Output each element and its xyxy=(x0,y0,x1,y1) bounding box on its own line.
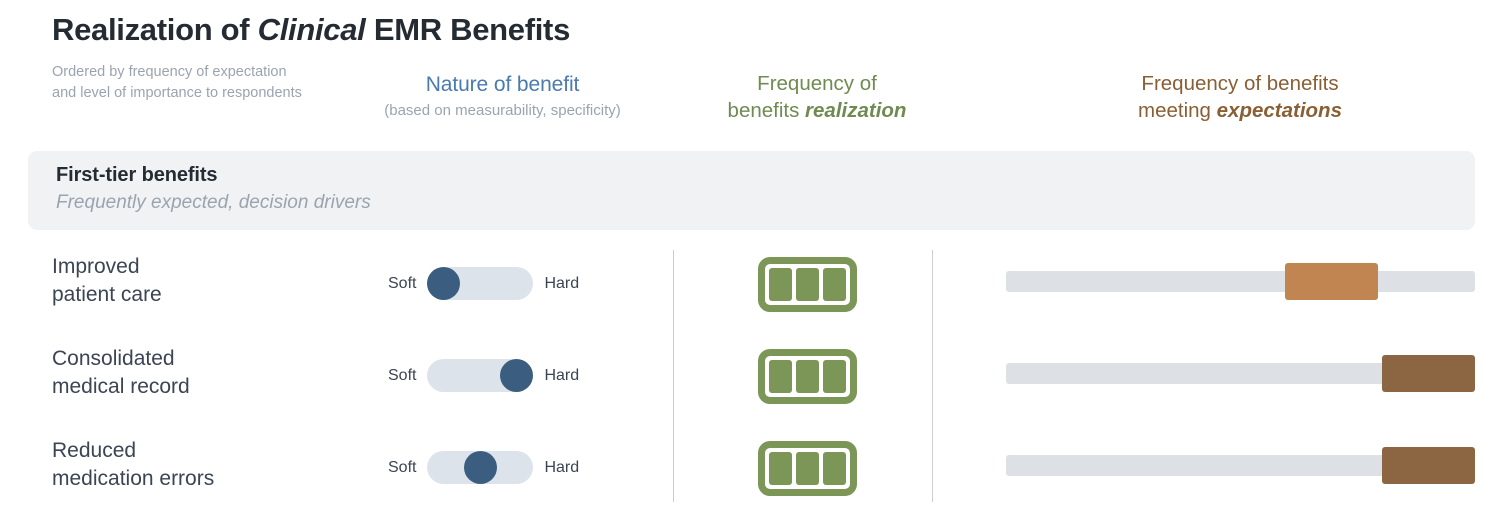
battery-icon xyxy=(758,349,857,404)
toggle-track[interactable] xyxy=(427,451,533,484)
battery-cell xyxy=(796,360,819,393)
battery-cell xyxy=(823,452,846,485)
title-part1: Realization of xyxy=(52,12,258,47)
table-row: Reduced medication errors Soft Hard xyxy=(0,432,1500,524)
column-header-expectations-line1: Frequency of benefits xyxy=(1000,70,1480,97)
expectation-bar-marker xyxy=(1382,447,1475,484)
title-part2: EMR Benefits xyxy=(366,12,571,47)
toggle-soft-label: Soft xyxy=(388,459,416,477)
expectation-bar-marker xyxy=(1285,263,1378,300)
realization-line2-plain: benefits xyxy=(728,99,806,122)
toggle-knob[interactable] xyxy=(464,451,497,484)
expectation-bar-marker xyxy=(1382,355,1475,392)
toggle-track[interactable] xyxy=(427,267,533,300)
toggle-hard-label: Hard xyxy=(544,367,579,385)
battery-cell xyxy=(769,452,792,485)
title-emphasis: Clinical xyxy=(258,12,366,47)
benefit-label-line2: medication errors xyxy=(52,465,322,493)
toggle-track[interactable] xyxy=(427,359,533,392)
column-header-nature: Nature of benefit (based on measurabilit… xyxy=(330,72,675,120)
table-row: Consolidated medical record Soft Hard xyxy=(0,340,1500,432)
expectations-line2-plain: meeting xyxy=(1138,99,1217,122)
column-header-realization: Frequency of benefits realization xyxy=(672,70,962,124)
column-header-realization-line2: benefits realization xyxy=(672,97,962,124)
toggle-soft-label: Soft xyxy=(388,275,416,293)
expectation-bar-track xyxy=(1006,363,1475,384)
expectations-line2-bold: expectations xyxy=(1217,99,1342,122)
battery-cell xyxy=(796,268,819,301)
table-row: Improved patient care Soft Hard xyxy=(0,248,1500,340)
page-title: Realization of Clinical EMR Benefits xyxy=(52,12,570,48)
expectation-bar-track xyxy=(1006,455,1475,476)
battery-cell xyxy=(796,452,819,485)
battery-icon xyxy=(758,257,857,312)
benefit-label-line2: medical record xyxy=(52,373,322,401)
tier-banner: First-tier benefits Frequently expected,… xyxy=(28,151,1475,230)
realization-line2-bold: realization xyxy=(805,99,906,122)
battery-cell xyxy=(769,268,792,301)
column-header-expectations: Frequency of benefits meeting expectatio… xyxy=(1000,70,1480,124)
toggle-knob[interactable] xyxy=(500,359,533,392)
battery-cell xyxy=(823,268,846,301)
benefit-label: Reduced medication errors xyxy=(52,437,322,492)
infographic-root: Realization of Clinical EMR Benefits Ord… xyxy=(0,0,1500,523)
tier-title: First-tier benefits xyxy=(56,164,1475,187)
expectation-bar-track xyxy=(1006,271,1475,292)
benefit-label-line1: Consolidated xyxy=(52,345,322,373)
nature-toggle[interactable]: Soft Hard xyxy=(388,451,579,484)
tier-subtitle: Frequently expected, decision drivers xyxy=(56,192,1475,214)
battery-cell xyxy=(769,360,792,393)
battery-icon xyxy=(758,441,857,496)
battery-cell xyxy=(823,360,846,393)
benefit-label: Consolidated medical record xyxy=(52,345,322,400)
column-header-nature-title: Nature of benefit xyxy=(330,72,675,98)
toggle-soft-label: Soft xyxy=(388,367,416,385)
benefit-label-line1: Improved xyxy=(52,253,322,281)
toggle-hard-label: Hard xyxy=(544,459,579,477)
benefit-label: Improved patient care xyxy=(52,253,322,308)
column-header-note: Ordered by frequency of expectation and … xyxy=(52,62,302,103)
column-header-realization-line1: Frequency of xyxy=(672,70,962,97)
nature-toggle[interactable]: Soft Hard xyxy=(388,267,579,300)
column-header-nature-subtitle: (based on measurability, specificity) xyxy=(330,102,675,120)
nature-toggle[interactable]: Soft Hard xyxy=(388,359,579,392)
column-header-expectations-line2: meeting expectations xyxy=(1000,97,1480,124)
toggle-knob[interactable] xyxy=(427,267,460,300)
benefit-label-line1: Reduced xyxy=(52,437,322,465)
benefit-label-line2: patient care xyxy=(52,281,322,309)
toggle-hard-label: Hard xyxy=(544,275,579,293)
